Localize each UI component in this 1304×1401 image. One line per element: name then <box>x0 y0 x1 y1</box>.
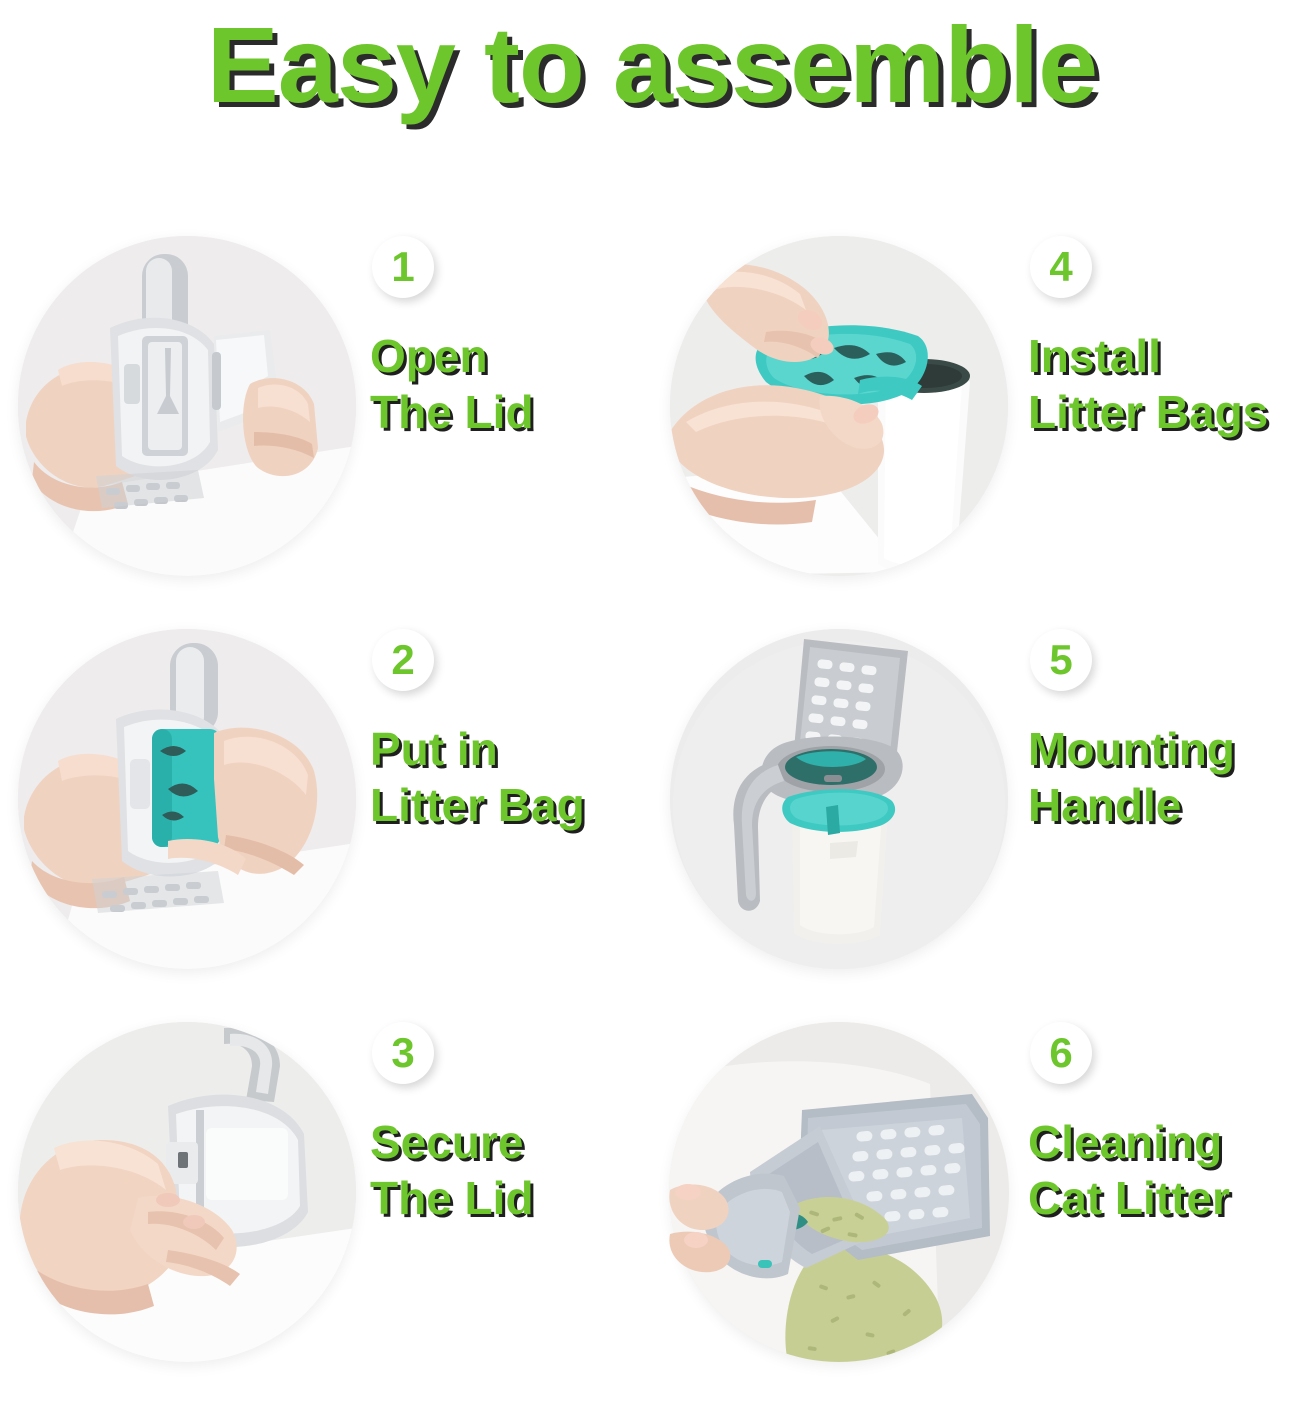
caption-2: 2 Put in Litter Bag <box>364 629 644 833</box>
caption-lines-5: Mounting Handle <box>1022 721 1302 833</box>
caption-6: 6 Cleaning Cat Litter <box>1022 1022 1302 1226</box>
caption-3: 3 Secure The Lid <box>364 1022 644 1226</box>
step-badge-6: 6 <box>1030 1022 1092 1084</box>
photo-install-litter-bags <box>670 236 1008 576</box>
step-card-1: 1 Open The Lid <box>0 222 652 615</box>
photo-open-the-lid <box>18 236 356 576</box>
caption-lines-4: Install Litter Bags <box>1022 328 1302 440</box>
step-card-3: 3 Secure The Lid <box>0 1008 652 1401</box>
assembly-steps-grid: 1 Open The Lid <box>0 222 1304 1401</box>
caption-1: 1 Open The Lid <box>364 236 644 440</box>
step-badge-4: 4 <box>1030 236 1092 298</box>
step-card-2: 2 Put in Litter Bag <box>0 615 652 1008</box>
caption-line-2b: Litter Bag <box>370 777 644 833</box>
caption-line-2a: Put in <box>370 721 644 777</box>
caption-line-5b: Handle <box>1028 777 1302 833</box>
photo-wrap-2 <box>18 629 356 969</box>
photo-wrap-6 <box>670 1022 1008 1362</box>
step-badge-2: 2 <box>372 629 434 691</box>
caption-4: 4 Install Litter Bags <box>1022 236 1302 440</box>
photo-wrap-4 <box>670 236 1008 576</box>
step-badge-3: 3 <box>372 1022 434 1084</box>
caption-line-4a: Install <box>1028 328 1302 384</box>
photo-cleaning-cat-litter <box>670 1022 1008 1362</box>
caption-lines-2: Put in Litter Bag <box>364 721 644 833</box>
photo-wrap-1 <box>18 236 356 576</box>
photo-wrap-3 <box>18 1022 356 1362</box>
caption-lines-1: Open The Lid <box>364 328 644 440</box>
caption-line-1a: Open <box>370 328 644 384</box>
caption-5: 5 Mounting Handle <box>1022 629 1302 833</box>
step-card-4: 4 Install Litter Bags <box>652 222 1304 615</box>
caption-lines-3: Secure The Lid <box>364 1114 644 1226</box>
photo-mounting-handle <box>670 629 1008 969</box>
caption-line-1b: The Lid <box>370 384 644 440</box>
page-title: Easy to assemble <box>0 8 1304 121</box>
photo-put-in-litter-bag <box>18 629 356 969</box>
caption-line-5a: Mounting <box>1028 721 1302 777</box>
caption-line-3b: The Lid <box>370 1170 644 1226</box>
caption-line-4b: Litter Bags <box>1028 384 1302 440</box>
photo-secure-the-lid <box>18 1022 356 1362</box>
caption-line-6b: Cat Litter <box>1028 1170 1302 1226</box>
caption-line-3a: Secure <box>370 1114 644 1170</box>
caption-lines-6: Cleaning Cat Litter <box>1022 1114 1302 1226</box>
caption-line-6a: Cleaning <box>1028 1114 1302 1170</box>
step-card-5: 5 Mounting Handle <box>652 615 1304 1008</box>
step-badge-5: 5 <box>1030 629 1092 691</box>
step-badge-1: 1 <box>372 236 434 298</box>
step-card-6: 6 Cleaning Cat Litter <box>652 1008 1304 1401</box>
photo-wrap-5 <box>670 629 1008 969</box>
